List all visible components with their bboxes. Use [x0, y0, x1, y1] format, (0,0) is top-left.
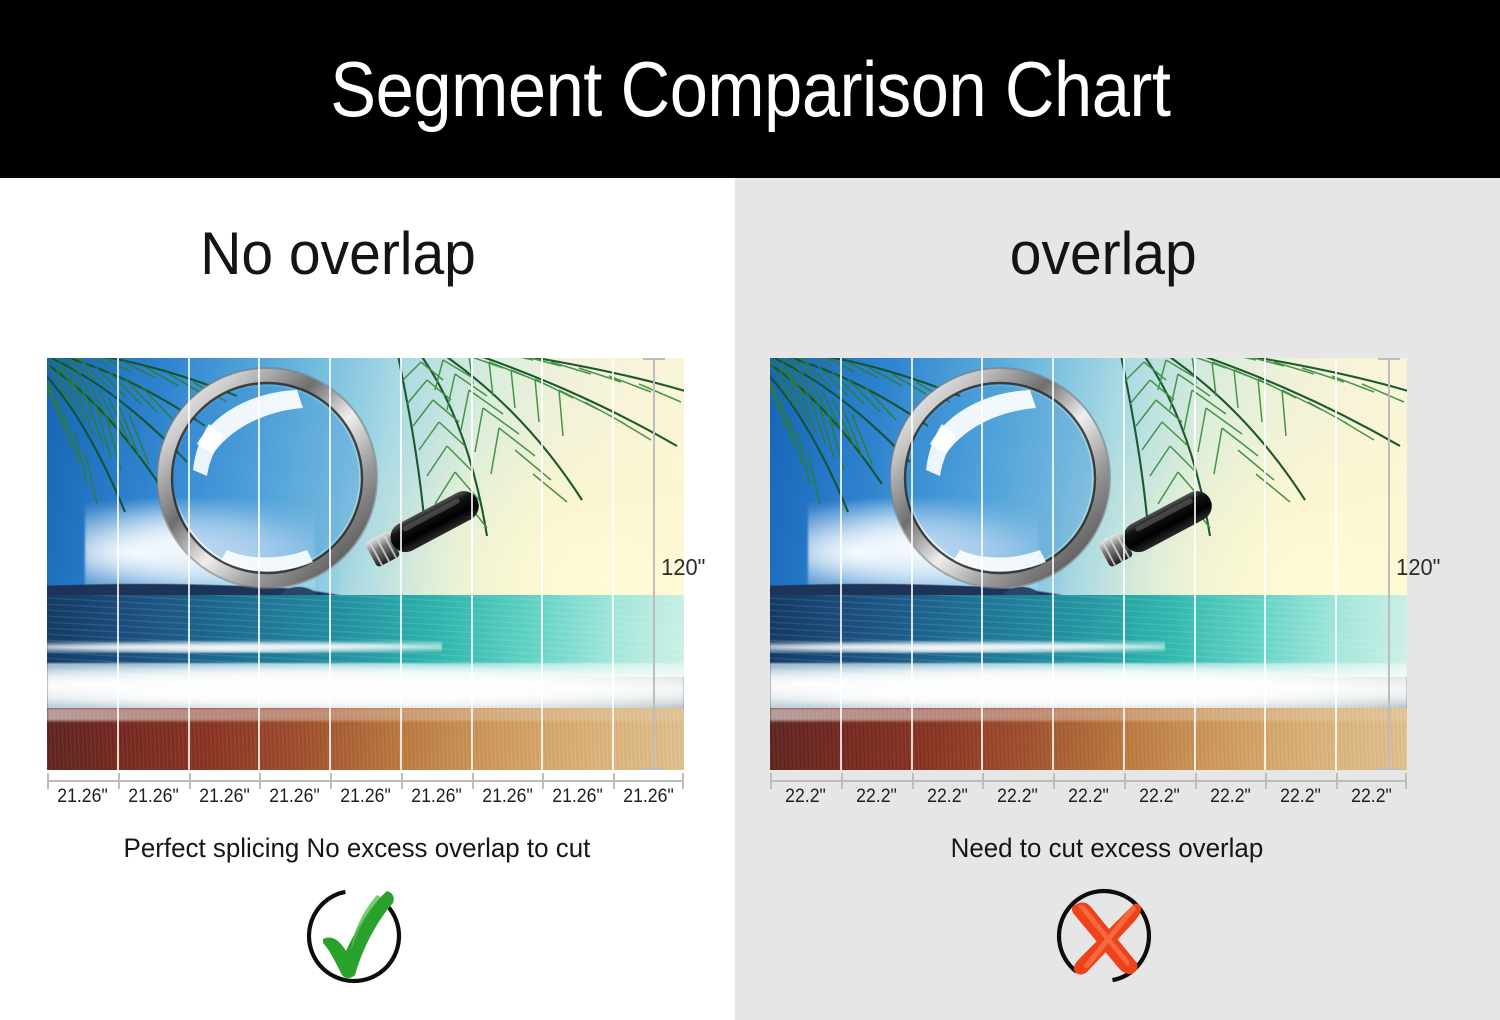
page-header: Segment Comparison Chart — [0, 0, 1500, 178]
segment-divider — [1052, 358, 1054, 770]
dimension-cap-bottom — [1378, 768, 1400, 770]
segment-width-label: 21.26" — [544, 786, 610, 808]
dimension-axis-line — [770, 780, 1407, 782]
segment-divider — [1194, 358, 1196, 770]
segment-divider — [188, 358, 190, 770]
dimension-axis-line — [47, 780, 684, 782]
segment-divider — [1123, 358, 1125, 770]
segment-width-label: 21.26" — [332, 786, 398, 808]
check-icon — [301, 883, 407, 989]
segment-width-label: 22.2" — [1338, 786, 1404, 808]
segment-divider — [612, 358, 614, 770]
segment-divider-lines — [47, 358, 684, 770]
segment-width-label: 22.2" — [1197, 786, 1263, 808]
segment-width-label: 21.26" — [120, 786, 186, 808]
beach-mural-image — [47, 358, 684, 770]
dimension-line — [653, 358, 655, 770]
segment-divider — [541, 358, 543, 770]
width-dimension-axis: 21.26"21.26"21.26"21.26"21.26"21.26"21.2… — [47, 772, 684, 812]
dimension-cap-bottom — [643, 768, 665, 770]
dimension-line — [1388, 358, 1390, 770]
segment-divider — [471, 358, 473, 770]
dimension-cap-top — [1378, 358, 1400, 360]
segment-divider — [258, 358, 260, 770]
segment-width-label: 22.2" — [1267, 786, 1333, 808]
segment-divider — [981, 358, 983, 770]
panel-caption-no-overlap: Perfect splicing No excess overlap to cu… — [15, 833, 721, 864]
segment-width-label: 21.26" — [261, 786, 327, 808]
segment-width-label: 21.26" — [474, 786, 540, 808]
segment-width-label: 22.2" — [1126, 786, 1192, 808]
segment-width-label: 21.26" — [191, 786, 257, 808]
segment-width-label: 22.2" — [843, 786, 909, 808]
segment-divider-lines — [770, 358, 1407, 770]
segment-width-label: 22.2" — [772, 786, 838, 808]
segment-divider — [840, 358, 842, 770]
dimension-cap-top — [643, 358, 665, 360]
verdict-overlap — [735, 883, 1500, 993]
panel-heading-no-overlap: No overlap — [18, 224, 716, 284]
comparison-panels: No overlap — [0, 178, 1500, 1020]
segment-divider — [329, 358, 331, 770]
mural-overlap: 22.2"22.2"22.2"22.2"22.2"22.2"22.2"22.2"… — [770, 358, 1407, 770]
segment-divider — [1264, 358, 1266, 770]
beach-mural-image — [770, 358, 1407, 770]
height-label: 120" — [661, 554, 705, 581]
segment-width-label: 22.2" — [914, 786, 980, 808]
segment-divider — [1335, 358, 1337, 770]
panel-heading-overlap: overlap — [754, 224, 1481, 284]
segment-divider — [400, 358, 402, 770]
panel-caption-overlap: Need to cut excess overlap — [750, 833, 1484, 864]
segment-divider — [117, 358, 119, 770]
segment-width-label: 22.2" — [1055, 786, 1121, 808]
panel-overlap: overlap — [735, 178, 1500, 1020]
mural-no-overlap: 21.26"21.26"21.26"21.26"21.26"21.26"21.2… — [47, 358, 684, 770]
segment-tick — [682, 773, 684, 789]
width-dimension-axis: 22.2"22.2"22.2"22.2"22.2"22.2"22.2"22.2"… — [770, 772, 1407, 812]
segment-width-label: 21.26" — [615, 786, 681, 808]
page-title: Segment Comparison Chart — [330, 50, 1170, 128]
segment-divider — [911, 358, 913, 770]
height-label: 120" — [1396, 554, 1440, 581]
segment-width-label: 22.2" — [984, 786, 1050, 808]
panel-no-overlap: No overlap — [0, 178, 735, 1020]
verdict-no-overlap — [0, 883, 735, 993]
cross-icon — [1051, 883, 1157, 989]
segment-width-label: 21.26" — [403, 786, 469, 808]
segment-tick — [1405, 773, 1407, 789]
segment-width-label: 21.26" — [49, 786, 115, 808]
